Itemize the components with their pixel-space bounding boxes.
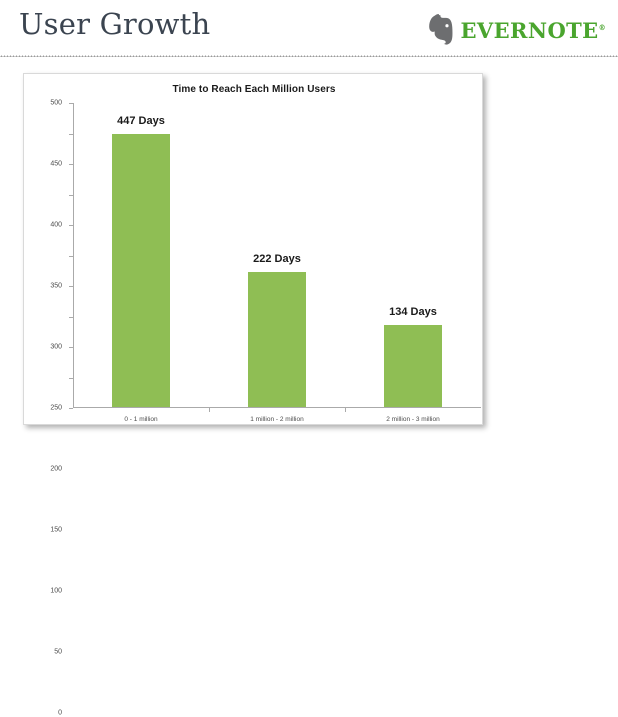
x-axis-tick xyxy=(209,408,210,412)
y-axis-tick: 350 xyxy=(69,195,73,196)
y-axis-tick: 250 xyxy=(69,256,73,257)
x-axis-tick xyxy=(345,408,346,412)
header-divider xyxy=(0,55,618,57)
x-axis-line xyxy=(73,407,481,408)
bar xyxy=(248,272,306,407)
y-axis-tick: 400 xyxy=(69,164,73,165)
y-axis-tick: 0 xyxy=(69,408,73,409)
y-axis-tick-label: 450 xyxy=(50,161,62,168)
y-axis-line xyxy=(73,103,74,408)
x-axis-category-label: 2 million - 3 million xyxy=(386,416,439,423)
chart-card: Time to Reach Each Million Users 0501001… xyxy=(23,73,483,425)
bar-value-label: 222 Days xyxy=(253,253,301,265)
evernote-wordmark-text: EVERNOTE xyxy=(461,18,599,43)
y-axis-tick-label: 350 xyxy=(50,283,62,290)
bar-chart-plot-area: 050100150200250300350400450500 447 Days2… xyxy=(73,103,481,408)
y-axis-tick: 200 xyxy=(69,286,73,287)
bar xyxy=(112,134,170,407)
y-axis-tick-label: 150 xyxy=(50,527,62,534)
bar-value-label: 447 Days xyxy=(117,115,165,127)
evernote-wordmark: EVERNOTE® xyxy=(461,20,607,41)
slide-header: User Growth EVERNOTE® xyxy=(0,0,618,57)
y-axis-tick-label: 300 xyxy=(50,344,62,351)
y-axis-tick-label: 200 xyxy=(50,466,62,473)
y-axis-tick: 50 xyxy=(69,378,73,379)
y-axis-tick-label: 100 xyxy=(50,588,62,595)
y-axis-tick-label: 50 xyxy=(54,649,62,656)
y-axis-tick: 300 xyxy=(69,225,73,226)
x-axis-category-label: 0 - 1 million xyxy=(124,416,157,423)
bar xyxy=(384,325,442,407)
y-axis-tick-label: 400 xyxy=(50,222,62,229)
y-axis-tick-label: 0 xyxy=(58,710,62,717)
y-axis-tick: 150 xyxy=(69,317,73,318)
y-axis-tick: 100 xyxy=(69,347,73,348)
registered-mark: ® xyxy=(599,23,606,32)
y-axis-tick-label: 250 xyxy=(50,405,62,412)
y-axis-tick-label: 500 xyxy=(50,100,62,107)
bar-value-label: 134 Days xyxy=(389,306,437,318)
y-axis-tick: 500 xyxy=(69,103,73,104)
page-title: User Growth xyxy=(19,7,210,41)
evernote-logo: EVERNOTE® xyxy=(428,12,607,46)
evernote-elephant-icon xyxy=(428,13,458,45)
y-axis-tick: 450 xyxy=(69,134,73,135)
chart-title: Time to Reach Each Million Users xyxy=(24,84,484,95)
x-axis-category-label: 1 million - 2 million xyxy=(250,416,303,423)
